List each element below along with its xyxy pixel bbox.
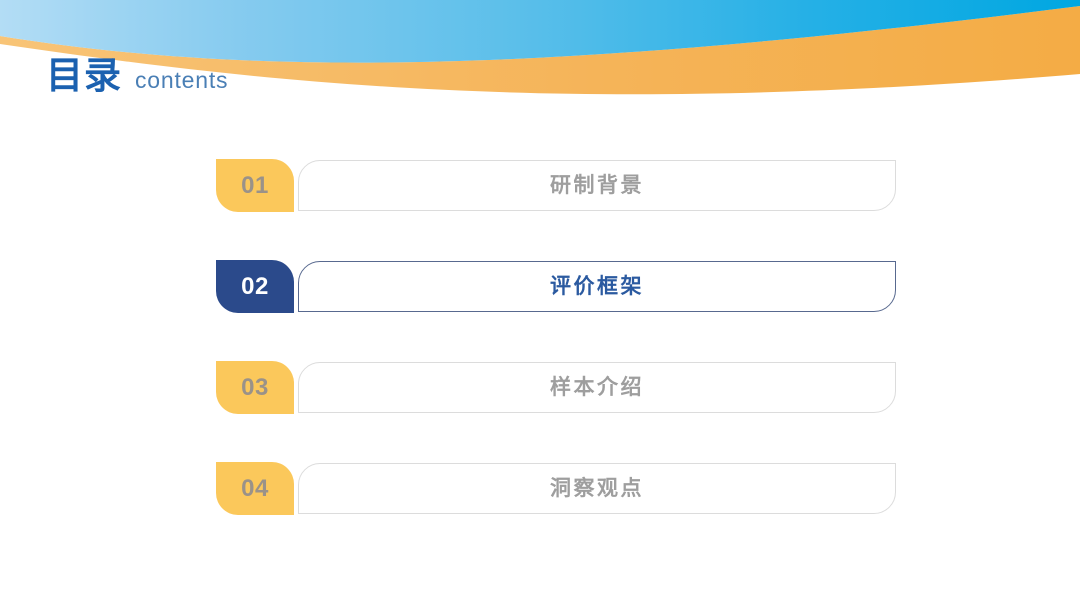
toc-pill-03[interactable]: 样本介绍 bbox=[298, 362, 896, 413]
toc-number-badge-04[interactable]: 04 bbox=[216, 462, 294, 515]
toc-item-02[interactable]: 02 评价框架 bbox=[216, 260, 896, 313]
toc-label-02: 评价框架 bbox=[550, 276, 644, 297]
toc-item-04[interactable]: 04 洞察观点 bbox=[216, 462, 896, 515]
page-title-en: contents bbox=[135, 69, 228, 92]
toc-pill-02[interactable]: 评价框架 bbox=[298, 261, 896, 312]
blue-swoosh bbox=[0, 0, 1080, 63]
slide-canvas: 目录 contents 01 研制背景 02 评价框架 03 样本介绍 04 洞… bbox=[0, 0, 1080, 606]
toc-number-badge-03[interactable]: 03 bbox=[216, 361, 294, 414]
table-of-contents: 01 研制背景 02 评价框架 03 样本介绍 04 洞察观点 bbox=[216, 159, 896, 515]
toc-number-badge-01[interactable]: 01 bbox=[216, 159, 294, 212]
toc-item-03[interactable]: 03 样本介绍 bbox=[216, 361, 896, 414]
toc-number-badge-02[interactable]: 02 bbox=[216, 260, 294, 313]
toc-label-04: 洞察观点 bbox=[550, 478, 644, 499]
toc-label-03: 样本介绍 bbox=[550, 377, 644, 398]
toc-item-01[interactable]: 01 研制背景 bbox=[216, 159, 896, 212]
page-title-cn: 目录 bbox=[46, 57, 122, 94]
toc-pill-04[interactable]: 洞察观点 bbox=[298, 463, 896, 514]
page-title: 目录 contents bbox=[46, 57, 228, 94]
toc-pill-01[interactable]: 研制背景 bbox=[298, 160, 896, 211]
toc-label-01: 研制背景 bbox=[550, 175, 644, 196]
